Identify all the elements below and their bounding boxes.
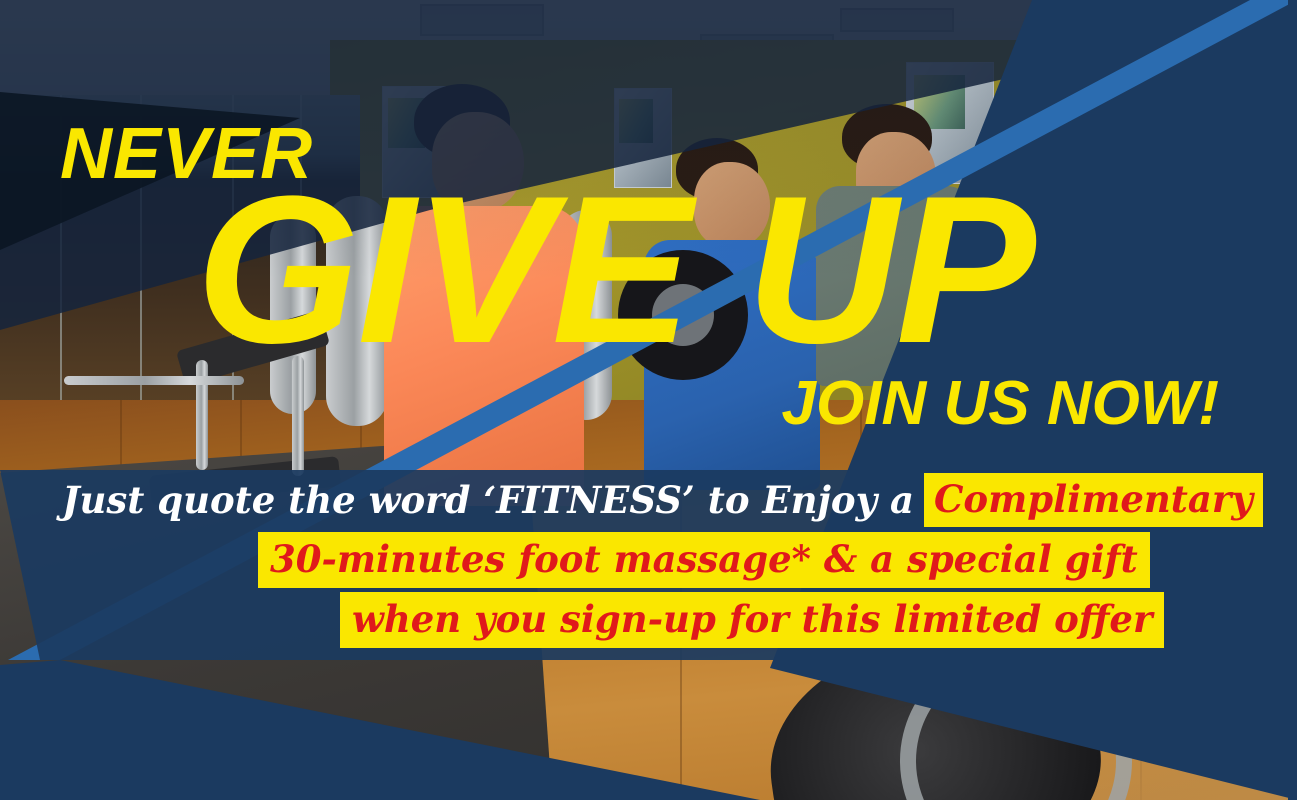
offer-line-2-text: 30-minutes foot massage* & a special gif… (258, 532, 1150, 588)
offer-line-3-text: when you sign-up for this limited offer (340, 592, 1164, 648)
offer-highlight-complimentary: Complimentary (924, 473, 1263, 527)
offer-line-1: Just quote the word ‘FITNESS’ to Enjoy a… (62, 478, 1263, 522)
offer-line-3: when you sign-up for this limited offer (340, 592, 1164, 648)
text-layer: NEVER GIVE UP JOIN US NOW! Just quote th… (0, 0, 1297, 800)
offer-line-1-text: Just quote the word ‘FITNESS’ to Enjoy a (62, 478, 914, 522)
cta-join-us-now[interactable]: JOIN US NOW! (782, 373, 1219, 435)
headline-give-up: GIVE UP (196, 170, 1034, 370)
promo-banner: NEVER GIVE UP JOIN US NOW! Just quote th… (0, 0, 1297, 800)
offer-line-2: 30-minutes foot massage* & a special gif… (258, 532, 1150, 588)
